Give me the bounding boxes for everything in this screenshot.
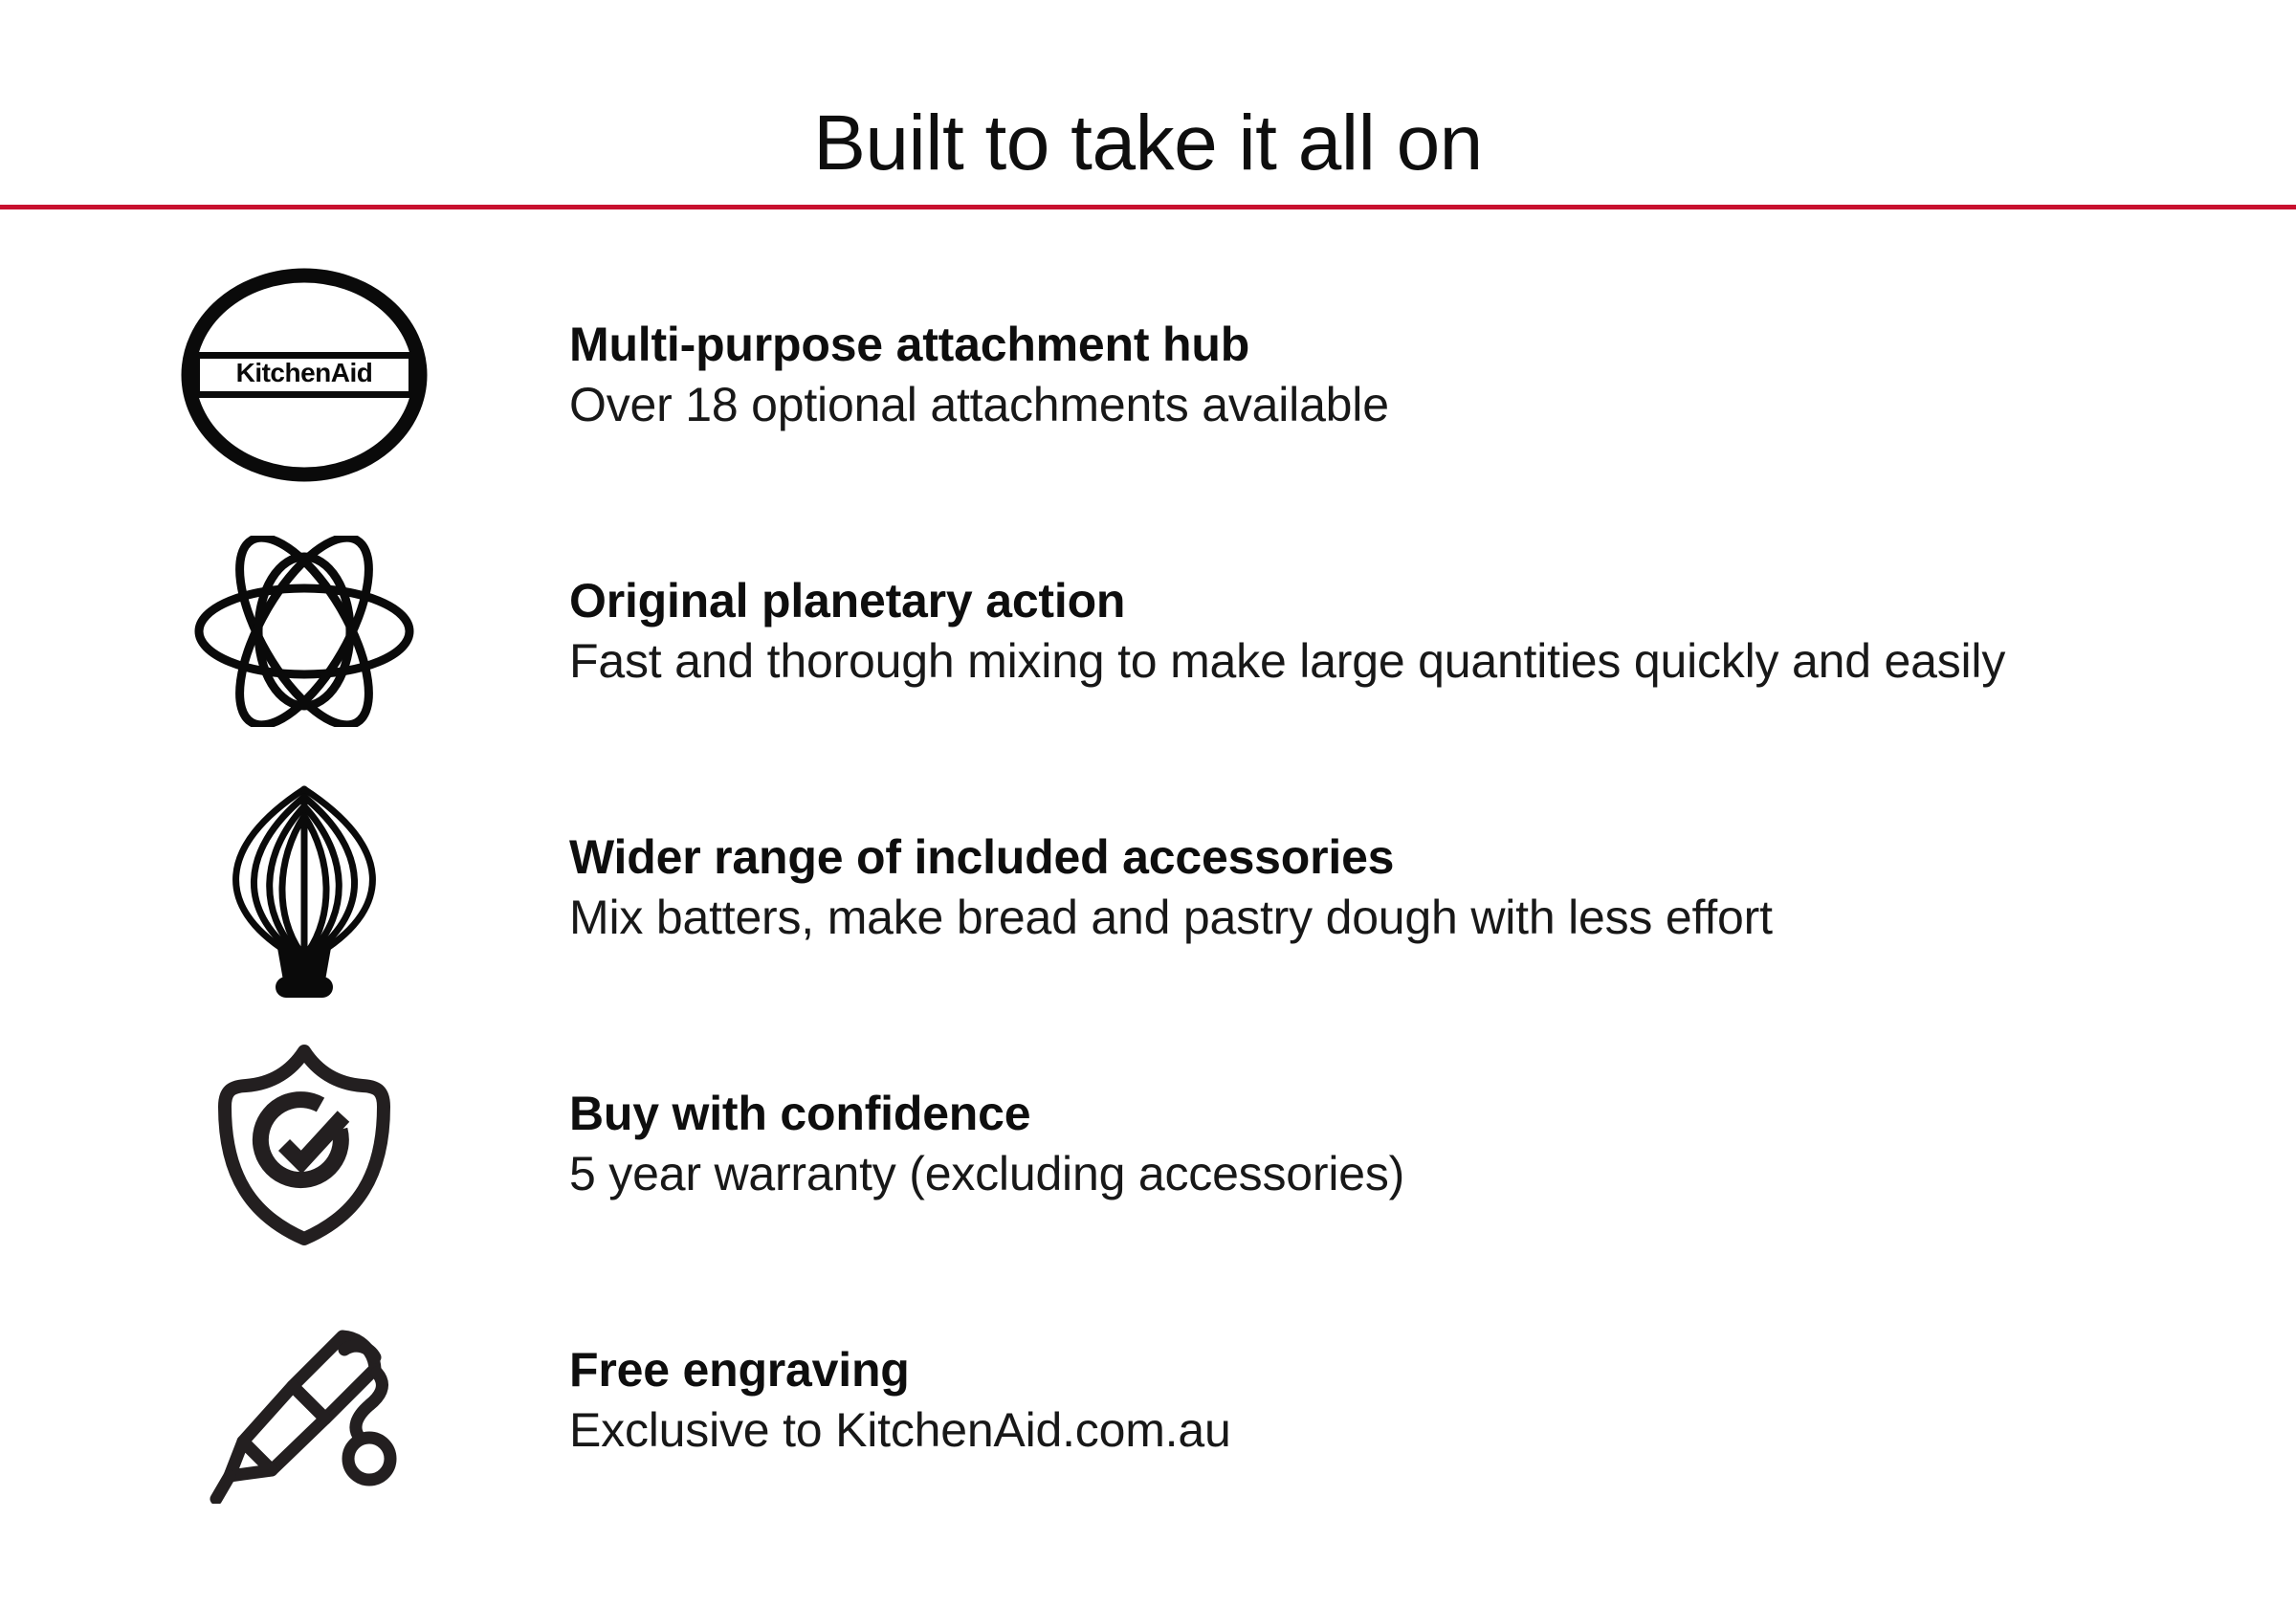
feature-description: 5 year warranty (excluding accessories) [569,1145,2296,1202]
text-cell: Wider range of included accessories Mix … [569,829,2296,946]
feature-row-planetary-action: Original planetary action Fast and thoro… [0,503,2296,759]
feature-row-included-accessories: Wider range of included accessories Mix … [0,759,2296,1016]
feature-description: Exclusive to KitchenAid.com.au [569,1401,2296,1459]
engraving-pen-icon [201,1298,407,1504]
kitchenaid-wordmark: KitchenAid [235,358,372,387]
icon-cell: KitchenAid [0,247,569,503]
feature-title: Free engraving [569,1342,2296,1398]
header-divider [0,205,2296,209]
feature-title: Wider range of included accessories [569,829,2296,885]
icon-cell [0,1016,569,1272]
feature-row-free-engraving: Free engraving Exclusive to KitchenAid.c… [0,1272,2296,1529]
feature-row-attachment-hub: KitchenAid Multi-purpose attachment hub … [0,247,2296,503]
feature-highlights-page: Built to take it all on KitchenAid Multi… [0,0,2296,1607]
page-header: Built to take it all on [0,0,2296,209]
feature-description: Fast and thorough mixing to make large q… [569,632,2296,690]
kitchenaid-hub-icon: KitchenAid [179,266,430,484]
shield-check-icon [213,1042,395,1247]
wire-whisk-icon [209,768,400,1007]
feature-row-warranty: Buy with confidence 5 year warranty (exc… [0,1016,2296,1272]
text-cell: Multi-purpose attachment hub Over 18 opt… [569,317,2296,433]
text-cell: Original planetary action Fast and thoro… [569,573,2296,690]
icon-cell [0,1272,569,1529]
planetary-action-icon [194,536,414,727]
text-cell: Free engraving Exclusive to KitchenAid.c… [569,1342,2296,1459]
feature-title: Original planetary action [569,573,2296,628]
feature-list: KitchenAid Multi-purpose attachment hub … [0,247,2296,1529]
text-cell: Buy with confidence 5 year warranty (exc… [569,1086,2296,1202]
icon-cell [0,759,569,1016]
page-title: Built to take it all on [813,104,1483,183]
feature-title: Buy with confidence [569,1086,2296,1141]
icon-cell [0,503,569,759]
feature-title: Multi-purpose attachment hub [569,317,2296,372]
feature-description: Mix batters, make bread and pastry dough… [569,889,2296,946]
feature-description: Over 18 optional attachments available [569,376,2296,433]
